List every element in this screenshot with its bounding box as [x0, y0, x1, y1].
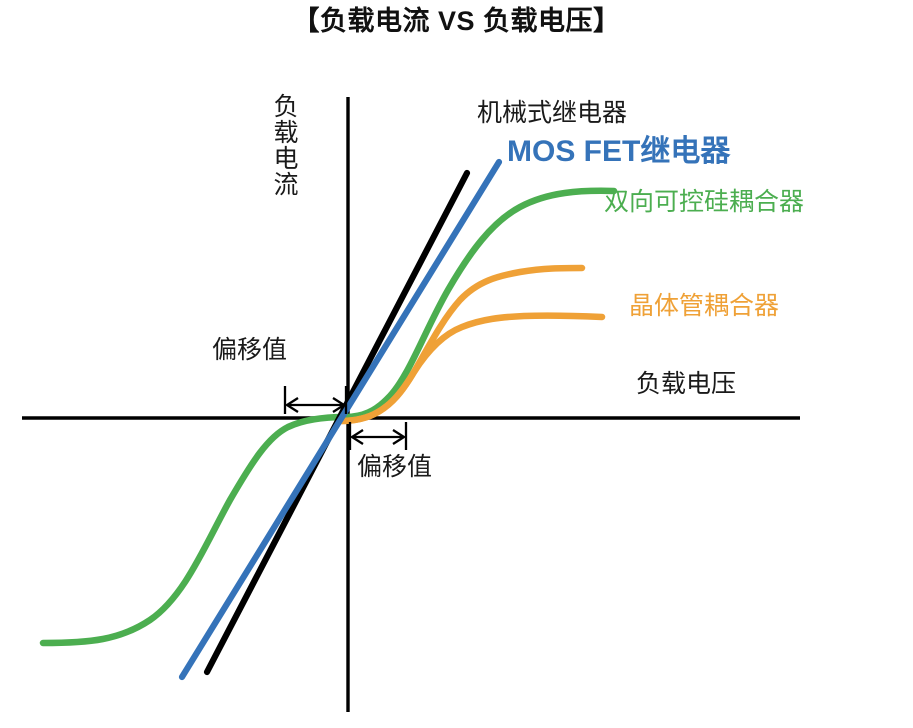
- y-axis-label: 负载电流: [271, 93, 296, 197]
- annotation-label-offset-lower: 偏移值: [357, 455, 432, 480]
- x-axis-label: 负载电压: [636, 372, 736, 397]
- series-label-triac-coupler: 双向可控硅耦合器: [604, 190, 804, 215]
- series-label-mechanical-relay: 机械式继电器: [477, 101, 627, 126]
- series-label-mosfet-relay: MOS FET继电器: [507, 137, 730, 167]
- chart-container: 【负载电流 VS 负载电压】: [0, 0, 913, 728]
- annotation-offset-upper: [285, 386, 346, 414]
- annotation-offset-lower: [350, 422, 406, 450]
- annotation-label-offset-upper: 偏移值: [212, 338, 287, 363]
- chart-plot-area: [0, 0, 913, 728]
- series-label-transistor-coupler: 晶体管耦合器: [629, 294, 779, 319]
